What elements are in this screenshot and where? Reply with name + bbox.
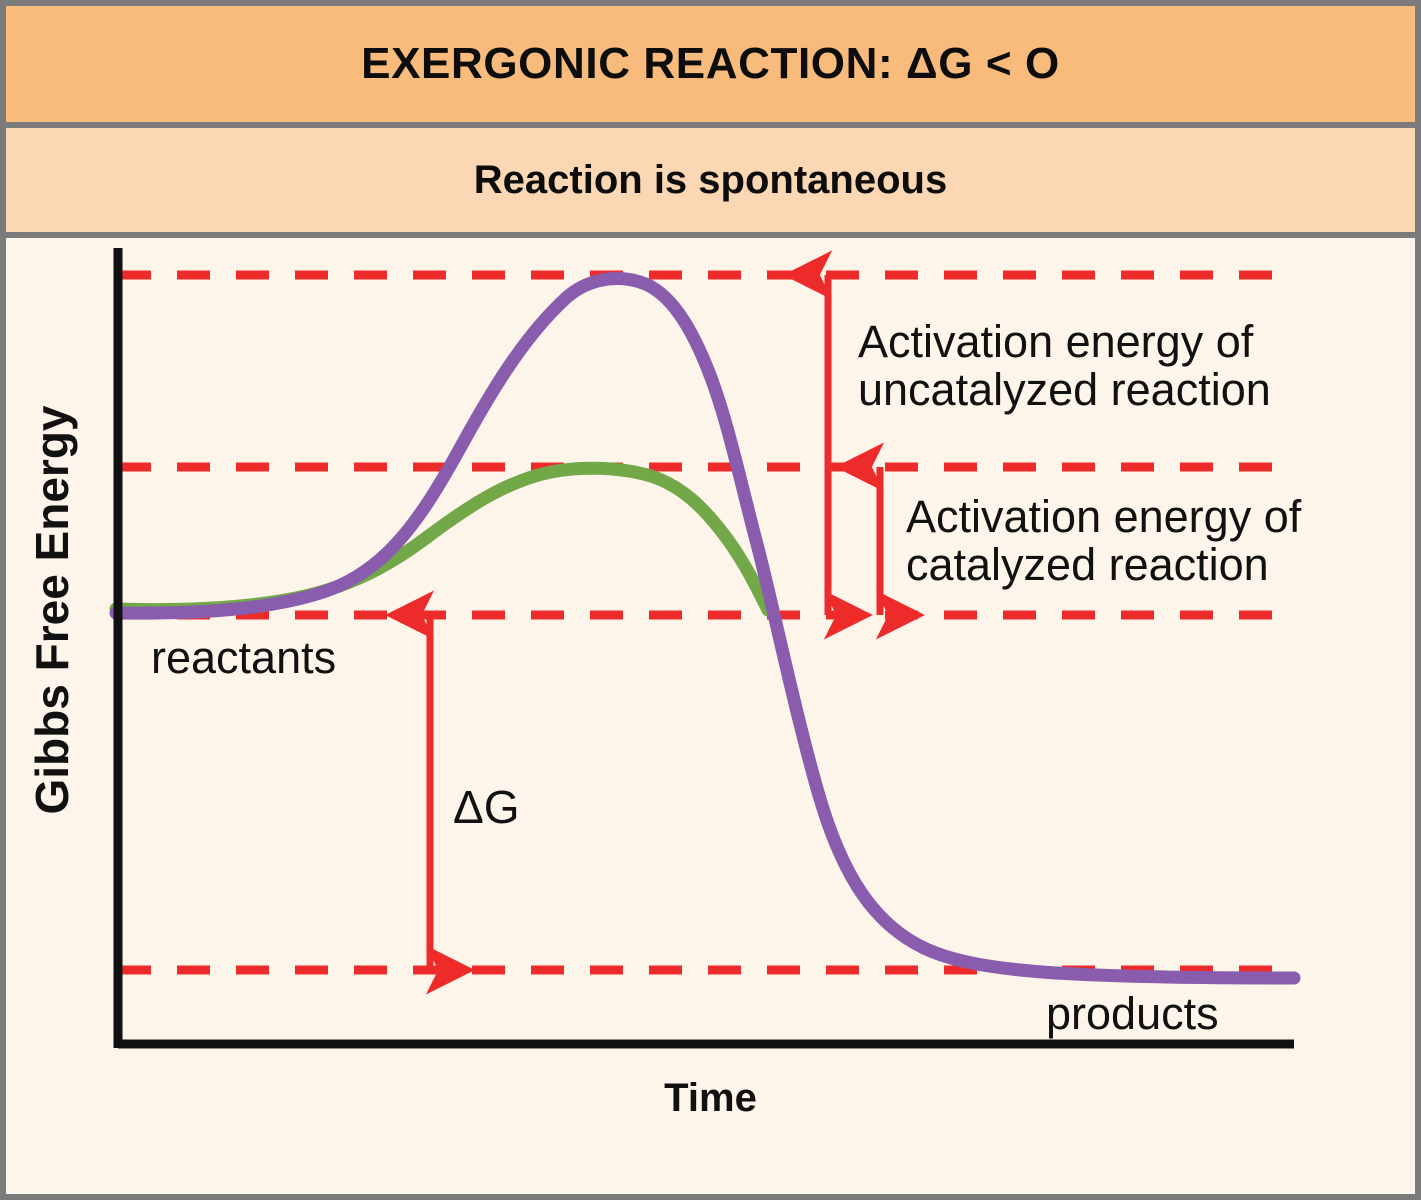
activation-energy-uncatalyzed-line-1: Activation energy of [858, 318, 1271, 366]
energy-diagram-plot: Gibbs Free Energy Time reactants product… [6, 238, 1415, 1188]
activation-energy-catalyzed-line-2: catalyzed reaction [906, 541, 1301, 589]
delta-g-label: ΔG [453, 780, 520, 834]
activation-energy-catalyzed-label: Activation energy of catalyzed reaction [906, 493, 1301, 589]
figure-title-band: EXERGONIC REACTION: ΔG < O [6, 6, 1415, 128]
activation-energy-catalyzed-line-1: Activation energy of [906, 493, 1301, 541]
figure-subtitle-band: Reaction is spontaneous [6, 128, 1415, 238]
reactants-label: reactants [151, 632, 336, 684]
figure-title: EXERGONIC REACTION: ΔG < O [361, 39, 1060, 89]
exergonic-reaction-figure: EXERGONIC REACTION: ΔG < O Reaction is s… [0, 0, 1421, 1200]
x-axis-label: Time [6, 1076, 1415, 1121]
y-axis-label: Gibbs Free Energy [25, 350, 79, 870]
activation-energy-uncatalyzed-line-2: uncatalyzed reaction [858, 366, 1271, 414]
activation-energy-uncatalyzed-label: Activation energy of uncatalyzed reactio… [858, 318, 1271, 414]
products-label: products [1046, 988, 1219, 1040]
figure-subtitle: Reaction is spontaneous [474, 158, 947, 203]
